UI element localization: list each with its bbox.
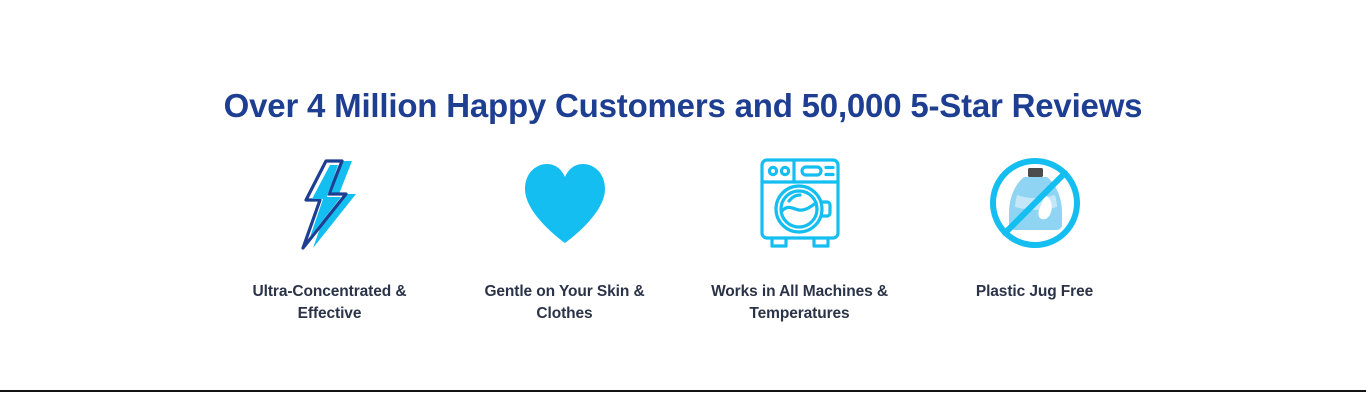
lightning-bolt-icon xyxy=(294,150,366,255)
happy-customers-banner: Over 4 Million Happy Customers and 50,00… xyxy=(0,0,1366,401)
feature-label: Ultra-Concentrated & Effective xyxy=(222,281,437,325)
feature-item-plastic-jug-free: Plastic Jug Free xyxy=(917,150,1152,303)
heart-icon xyxy=(523,150,607,255)
feature-label: Plastic Jug Free xyxy=(976,281,1093,303)
feature-label: Gentle on Your Skin & Clothes xyxy=(457,281,672,325)
washing-machine-icon xyxy=(754,150,846,255)
feature-item-gentle: Gentle on Your Skin & Clothes xyxy=(447,150,682,325)
feature-label: Works in All Machines & Temperatures xyxy=(692,281,907,325)
section-divider xyxy=(0,390,1366,392)
feature-item-all-machines: Works in All Machines & Temperatures xyxy=(682,150,917,325)
page-title: Over 4 Million Happy Customers and 50,00… xyxy=(0,84,1366,128)
feature-list: Ultra-Concentrated & Effective Gentle on… xyxy=(212,150,1152,325)
feature-item-ultra-concentrated: Ultra-Concentrated & Effective xyxy=(212,150,447,325)
no-plastic-jug-icon xyxy=(987,150,1083,255)
